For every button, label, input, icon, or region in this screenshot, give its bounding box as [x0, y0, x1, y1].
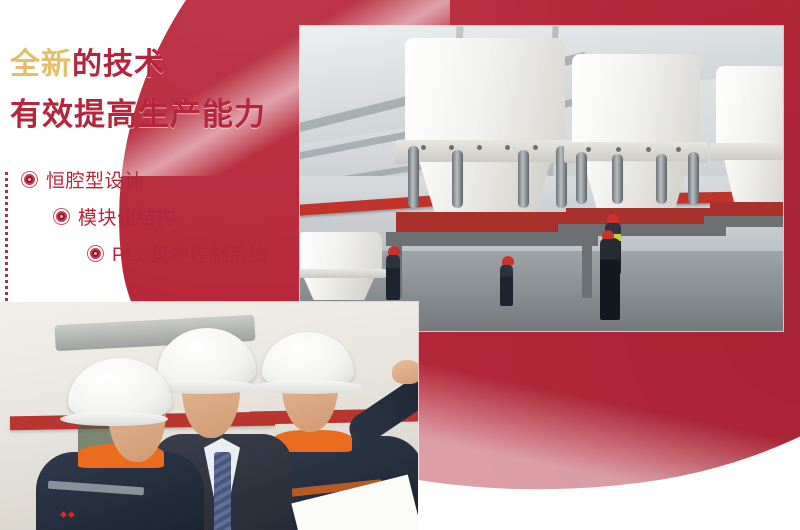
headline-block: 全新的技术 有效提高生产能力 — [10, 44, 310, 136]
uniform-chest-logo: ◆◆ — [60, 510, 76, 520]
photo-machines — [300, 26, 783, 331]
promo-banner: 全新的技术 有效提高生产能力 恒腔型设计 模块化结构 PLC集中控制系统 — [0, 0, 800, 530]
crusher-base-red — [566, 208, 716, 224]
feature-label-3: PLC集中控制系统 — [112, 240, 267, 267]
hydraulic-cylinder — [408, 146, 419, 208]
crusher-upper-shell — [716, 66, 783, 147]
crusher-upper-shell — [405, 38, 565, 145]
crusher-flange — [395, 140, 574, 164]
crusher-lower-body — [304, 278, 375, 300]
feature-item-1: 恒腔型设计 — [22, 166, 332, 193]
crusher-bolt — [586, 147, 591, 152]
cone-crusher-primary — [405, 38, 565, 223]
worker-figure — [500, 264, 513, 306]
photo-workers: ◆◆ — [0, 302, 418, 530]
headline-highlight: 全新 — [10, 48, 72, 81]
crusher-support-frame — [704, 216, 783, 227]
crusher-bolt — [676, 147, 681, 152]
hydraulic-cylinder — [576, 152, 587, 204]
worker-figure — [386, 254, 400, 300]
crusher-lower-body — [584, 161, 689, 214]
crusher-bolt — [646, 147, 651, 152]
feature-item-2: 模块化结构 — [54, 203, 332, 230]
cone-crusher-third — [716, 66, 783, 206]
crusher-flange — [300, 269, 387, 278]
circle-bullet-icon — [88, 246, 103, 261]
cone-crusher-foreground — [300, 232, 382, 300]
worker-right-hand — [392, 360, 418, 384]
crusher-lower-body — [724, 160, 783, 206]
circle-bullet-icon — [54, 209, 69, 224]
hydraulic-cylinder — [612, 154, 623, 204]
crusher-upper-shell — [572, 54, 700, 147]
feature-item-3: PLC集中控制系统 — [88, 240, 332, 267]
crusher-base-red — [710, 202, 783, 216]
headline-line-1: 全新的技术 — [10, 44, 310, 86]
hydraulic-cylinder — [656, 154, 667, 204]
crusher-leg — [582, 246, 592, 298]
inspector-figure — [600, 238, 620, 320]
headline-rest: 的技术 — [72, 48, 165, 81]
feature-list: 恒腔型设计 模块化结构 PLC集中控制系统 — [22, 166, 332, 277]
crusher-flange — [710, 143, 783, 161]
hydraulic-cylinder — [518, 150, 529, 208]
crusher-support-frame — [558, 224, 726, 236]
cone-crusher-secondary — [572, 54, 700, 214]
feature-label-2: 模块化结构 — [78, 203, 176, 230]
worker-center-tie — [214, 452, 231, 530]
hydraulic-cylinder — [452, 150, 463, 208]
crusher-bolt — [616, 147, 621, 152]
headline-line-2: 有效提高生产能力 — [10, 94, 310, 136]
crusher-upper-shell — [300, 232, 382, 271]
circle-bullet-icon — [22, 172, 37, 187]
feature-label-1: 恒腔型设计 — [46, 166, 144, 193]
hydraulic-cylinder — [688, 152, 699, 204]
